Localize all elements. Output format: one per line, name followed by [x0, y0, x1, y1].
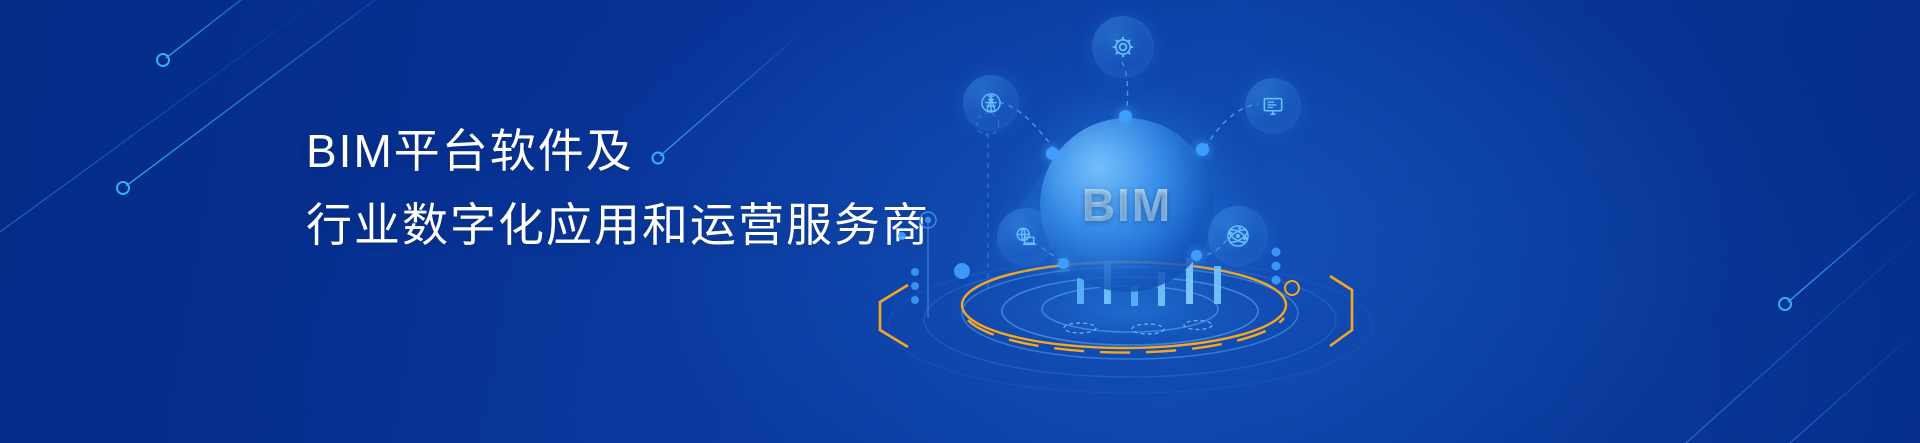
gear-icon-bubble[interactable]: [1092, 16, 1154, 78]
sphere-node-bottom-left: [1058, 258, 1069, 269]
power-tower-icon: [978, 90, 1004, 116]
sphere-node-bottom-right: [1191, 250, 1202, 261]
hero-banner: BIM平台软件及 行业数字化应用和运营服务商: [0, 0, 1920, 443]
sphere-node-right: [1196, 143, 1209, 156]
power-tower-icon-bubble[interactable]: [963, 75, 1019, 131]
sphere-node-top: [1119, 110, 1132, 123]
monitor-icon: [1260, 93, 1286, 119]
gear-icon: [1110, 34, 1136, 60]
monitor-icon-bubble[interactable]: [1245, 78, 1301, 134]
illustration-vectors: [0, 0, 1920, 443]
sphere-node-left: [1046, 147, 1059, 160]
network-node-icon-bubble[interactable]: [1208, 206, 1268, 266]
bim-illustration: BIM: [0, 0, 1920, 443]
globe-laptop-icon: [1012, 223, 1040, 251]
network-node-icon: [1224, 222, 1252, 250]
globe-laptop-icon-bubble[interactable]: [997, 208, 1055, 266]
